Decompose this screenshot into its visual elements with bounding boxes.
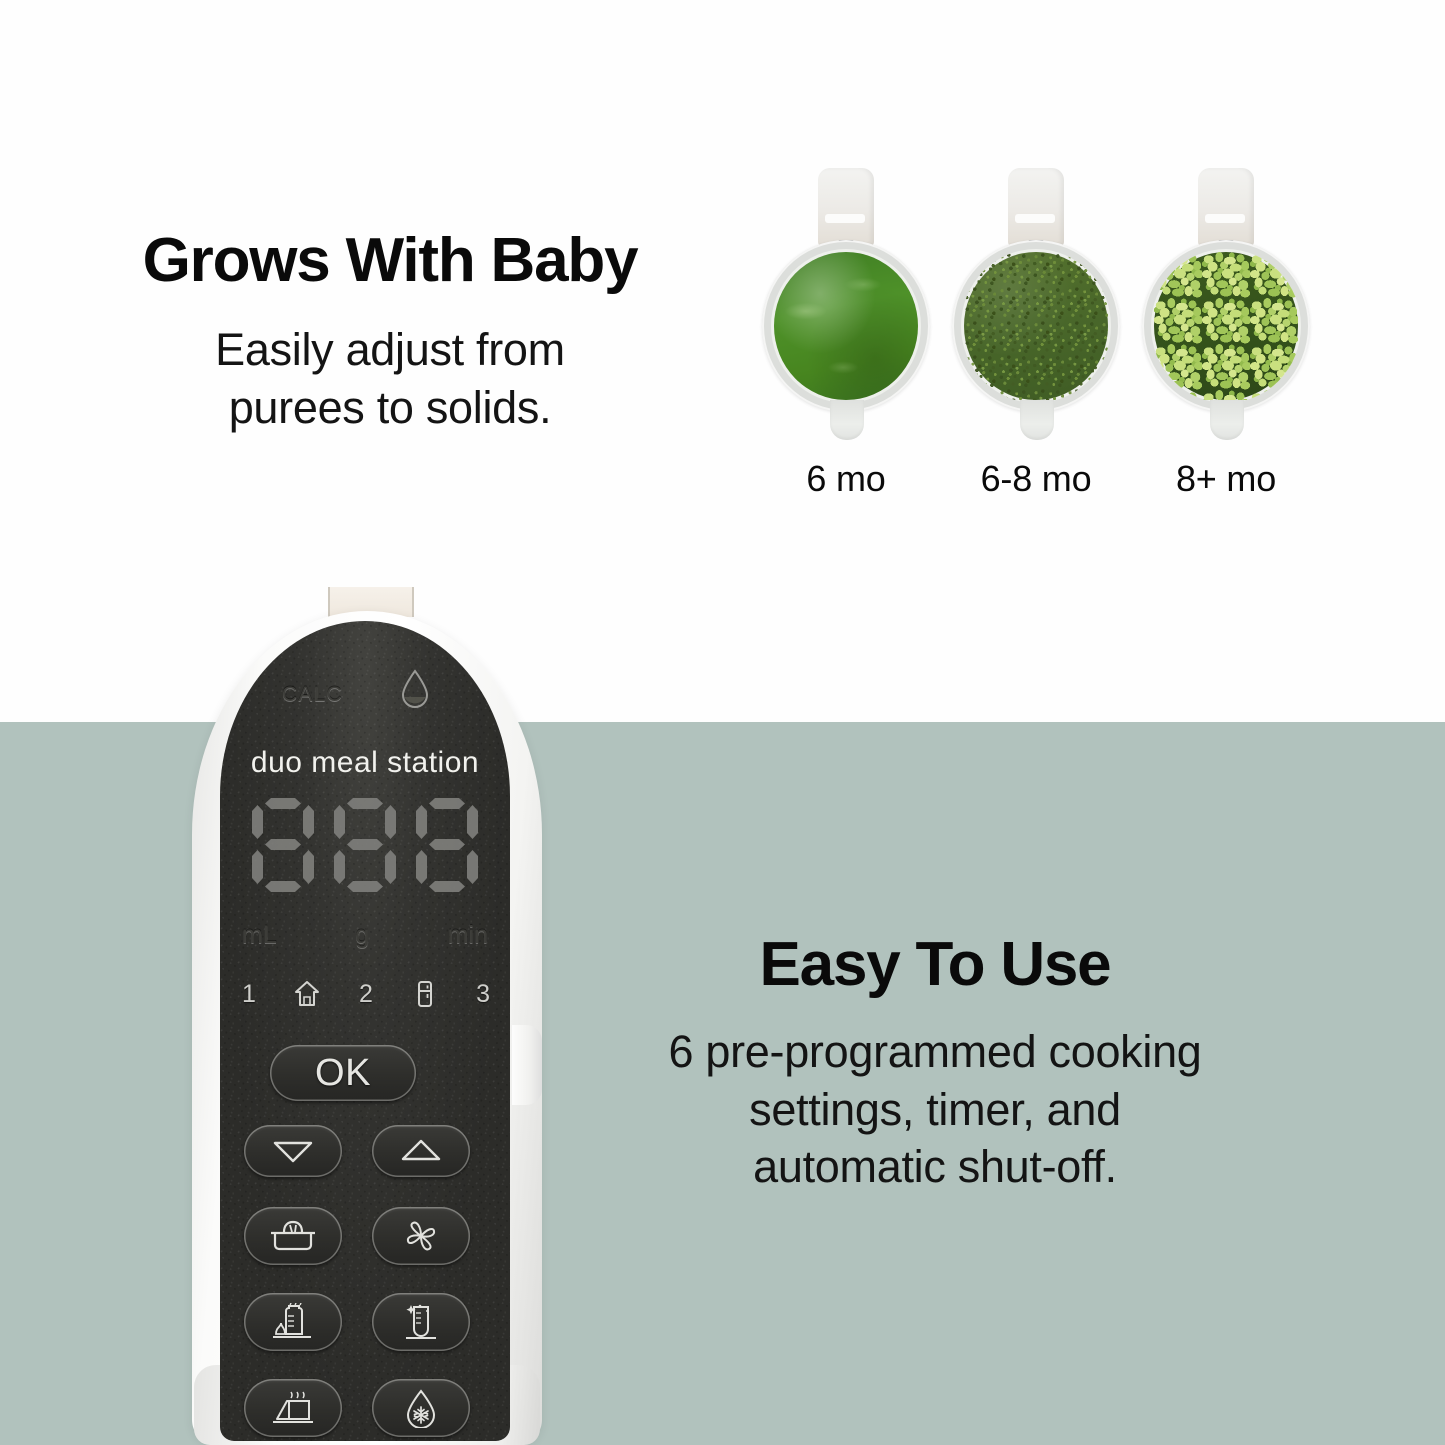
food-fine-grain: [964, 252, 1108, 400]
feature-bottom-subcopy-line3: automatic shut-off.: [753, 1141, 1117, 1192]
calc-indicator-label: CALC: [282, 683, 343, 707]
texture-item: 8+ mo: [1142, 168, 1310, 518]
steam-cook-icon: [267, 1219, 319, 1253]
sterilize-icon: [398, 1303, 444, 1341]
jar-spout: [1020, 400, 1054, 440]
page-title-grows-with-baby: Grows With Baby: [60, 228, 720, 293]
food-smooth-puree: [774, 252, 918, 400]
lcd-digit: [252, 798, 314, 892]
svg-text:duo meal station: duo meal station: [251, 746, 479, 779]
jar-inner: [771, 249, 921, 403]
blender-jar-icon: [762, 240, 930, 412]
unit-label-g: g: [355, 921, 369, 950]
feature-bottom-subcopy-line1: 6 pre-programmed cooking: [668, 1026, 1201, 1077]
feature-top-text: Grows With Baby Easily adjust from puree…: [60, 228, 720, 436]
lcd-digit: [416, 798, 478, 892]
feature-bottom-subcopy: 6 pre-programmed cooking settings, timer…: [590, 1023, 1280, 1196]
sterilize-button[interactable]: [372, 1293, 470, 1351]
defrost-icon: [402, 1388, 440, 1428]
feature-top-subcopy-line1: Easily adjust from: [215, 324, 565, 375]
increase-button[interactable]: [372, 1125, 470, 1177]
decrease-button[interactable]: [244, 1125, 342, 1177]
feature-top-subcopy-line2: purees to solids.: [229, 382, 552, 433]
mode-indicator-2: 2: [359, 980, 373, 1009]
jar-inner: [1151, 249, 1301, 403]
page-title-easy-to-use: Easy To Use: [590, 932, 1280, 997]
unit-labels: mL g min: [242, 921, 488, 950]
mode-indicator-1: 1: [242, 980, 256, 1009]
reheat-meal-icon: [267, 1389, 319, 1427]
control-panel: CALC duo meal station: [220, 621, 510, 1441]
jar-spout: [1210, 400, 1244, 440]
house-icon: [294, 979, 320, 1009]
blender-jar-icon: [1142, 240, 1310, 412]
jar-spout: [830, 400, 864, 440]
jar-handle: [1008, 168, 1064, 246]
unit-label-ml: mL: [242, 921, 277, 950]
jar-handle: [818, 168, 874, 246]
feature-top-subcopy: Easily adjust from purees to solids.: [60, 321, 720, 436]
jar-inner: [961, 249, 1111, 403]
steam-cook-button[interactable]: [244, 1207, 342, 1265]
marketing-image: Grows With Baby Easily adjust from puree…: [0, 0, 1445, 1445]
lcd-digit: [334, 798, 396, 892]
blend-icon: [399, 1219, 443, 1253]
duo-meal-station-device: CALC duo meal station: [170, 585, 570, 1445]
brand-wordmark: duo meal station: [220, 739, 510, 785]
fridge-icon: [412, 979, 438, 1009]
mode-indicator-3: 3: [476, 980, 490, 1009]
blender-jar-icon: [952, 240, 1120, 412]
texture-item: 6-8 mo: [952, 168, 1120, 518]
defrost-button[interactable]: [372, 1379, 470, 1437]
device-side-tab: [512, 1025, 542, 1105]
triangle-down-icon: [271, 1137, 315, 1165]
jar-handle: [1198, 168, 1254, 246]
feature-bottom-subcopy-line2: settings, timer, and: [749, 1084, 1121, 1135]
texture-label: 6 mo: [762, 458, 930, 500]
lcd-display: [252, 797, 478, 893]
mode-indicator-row: 1 2 3: [242, 979, 490, 1009]
texture-label: 8+ mo: [1142, 458, 1310, 500]
texture-item: 6 mo: [762, 168, 930, 518]
feature-bottom-text: Easy To Use 6 pre-programmed cooking set…: [590, 932, 1280, 1196]
reheat-meal-button[interactable]: [244, 1379, 342, 1437]
blend-button[interactable]: [372, 1207, 470, 1265]
bottle-warmer-button[interactable]: [244, 1293, 342, 1351]
unit-label-min: min: [448, 921, 488, 950]
texture-comparison: 6 mo 6-8 mo 8+ mo: [760, 168, 1330, 518]
food-chunky-pieces: [1154, 252, 1298, 400]
ok-button[interactable]: OK: [270, 1045, 416, 1101]
bottle-warm-icon: [267, 1303, 319, 1341]
triangle-up-icon: [399, 1137, 443, 1165]
texture-label: 6-8 mo: [952, 458, 1120, 500]
water-drop-icon: [400, 669, 430, 709]
